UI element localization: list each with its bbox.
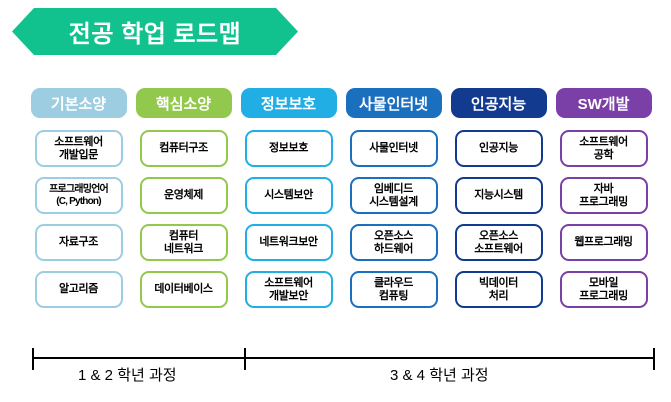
course-box[interactable]: 네트워크보안: [245, 224, 333, 261]
course-box[interactable]: 소프트웨어 공학: [560, 130, 648, 167]
course-box[interactable]: 자료구조: [35, 224, 123, 261]
course-box[interactable]: 지능시스템: [455, 177, 543, 214]
course-box[interactable]: 오픈소스 소프트웨어: [455, 224, 543, 261]
axis-label-year-1-2: 1 & 2 학년 과정: [78, 364, 177, 385]
course-box[interactable]: 소프트웨어 개발입문: [35, 130, 123, 167]
roadmap-column-artificial-intelligence: 인공지능 인공지능 지능시스템 오픈소스 소프트웨어 빅데이터 처리: [446, 88, 551, 308]
course-list-sw-development: 소프트웨어 공학 자바 프로그래밍 웹프로그래밍 모바일 프로그래밍: [560, 130, 648, 308]
course-box[interactable]: 시스템보안: [245, 177, 333, 214]
roadmap-column-sw-development: SW개발 소프트웨어 공학 자바 프로그래밍 웹프로그래밍 모바일 프로그래밍: [551, 88, 656, 308]
course-box[interactable]: 정보보호: [245, 130, 333, 167]
course-box[interactable]: 알고리즘: [35, 271, 123, 308]
course-box[interactable]: 데이터베이스: [140, 271, 228, 308]
course-box[interactable]: 컴퓨터 네트워크: [140, 224, 228, 261]
course-box[interactable]: 컴퓨터구조: [140, 130, 228, 167]
course-list-core-literacy: 컴퓨터구조 운영체제 컴퓨터 네트워크 데이터베이스: [140, 130, 228, 308]
course-list-iot: 사물인터넷 임베디드 시스템설계 오픈소스 하드웨어 클라우드 컴퓨팅: [350, 130, 438, 308]
roadmap-column-iot: 사물인터넷 사물인터넷 임베디드 시스템설계 오픈소스 하드웨어 클라우드 컴퓨…: [341, 88, 446, 308]
course-box[interactable]: 웹프로그래밍: [560, 224, 648, 261]
course-box[interactable]: 운영체제: [140, 177, 228, 214]
roadmap-grid: 기본소양 소프트웨어 개발입문 프로그래밍언어 (C, Python) 자료구조…: [26, 88, 656, 308]
roadmap-column-core-literacy: 핵심소양 컴퓨터구조 운영체제 컴퓨터 네트워크 데이터베이스: [131, 88, 236, 308]
course-box[interactable]: 임베디드 시스템설계: [350, 177, 438, 214]
course-box[interactable]: 프로그래밍언어 (C, Python): [35, 177, 123, 214]
course-list-artificial-intelligence: 인공지능 지능시스템 오픈소스 소프트웨어 빅데이터 처리: [455, 130, 543, 308]
page-title-banner: 전공 학업 로드맵: [12, 8, 298, 55]
course-box[interactable]: 자바 프로그래밍: [560, 177, 648, 214]
roadmap-column-basic-literacy: 기본소양 소프트웨어 개발입문 프로그래밍언어 (C, Python) 자료구조…: [26, 88, 131, 308]
column-header-basic-literacy[interactable]: 기본소양: [31, 88, 127, 118]
column-header-core-literacy[interactable]: 핵심소양: [136, 88, 232, 118]
course-box[interactable]: 모바일 프로그래밍: [560, 271, 648, 308]
course-box[interactable]: 빅데이터 처리: [455, 271, 543, 308]
column-header-iot[interactable]: 사물인터넷: [346, 88, 442, 118]
column-header-information-security[interactable]: 정보보호: [241, 88, 337, 118]
course-box[interactable]: 인공지능: [455, 130, 543, 167]
axis-label-year-3-4: 3 & 4 학년 과정: [390, 364, 489, 385]
course-box[interactable]: 클라우드 컴퓨팅: [350, 271, 438, 308]
course-box[interactable]: 오픈소스 하드웨어: [350, 224, 438, 261]
column-header-sw-development[interactable]: SW개발: [556, 88, 652, 118]
page-title: 전공 학업 로드맵: [12, 8, 298, 55]
course-list-information-security: 정보보호 시스템보안 네트워크보안 소프트웨어 개발보안: [245, 130, 333, 308]
course-box[interactable]: 소프트웨어 개발보안: [245, 271, 333, 308]
course-list-basic-literacy: 소프트웨어 개발입문 프로그래밍언어 (C, Python) 자료구조 알고리즘: [35, 130, 123, 308]
column-header-artificial-intelligence[interactable]: 인공지능: [451, 88, 547, 118]
roadmap-column-information-security: 정보보호 정보보호 시스템보안 네트워크보안 소프트웨어 개발보안: [236, 88, 341, 308]
course-box[interactable]: 사물인터넷: [350, 130, 438, 167]
